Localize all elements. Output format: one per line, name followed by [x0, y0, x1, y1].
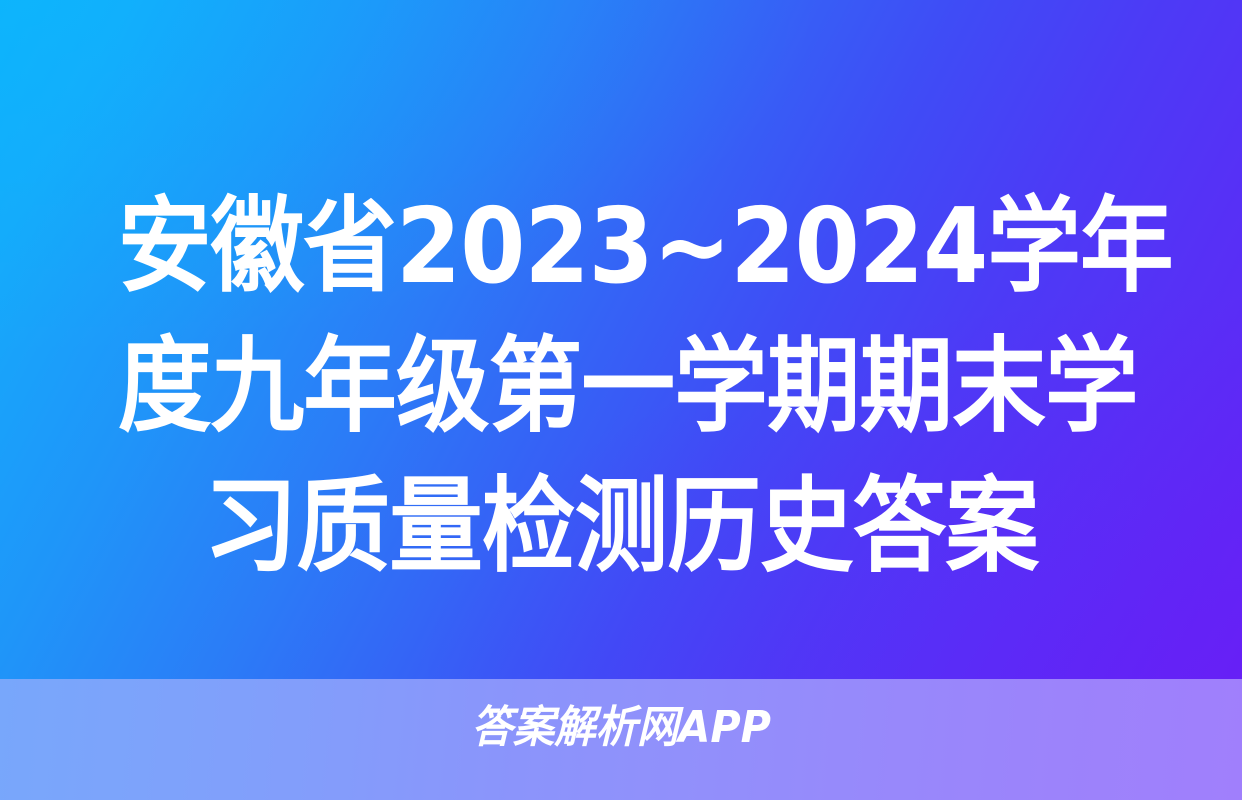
watermark: 答案解析网APP: [0, 700, 1242, 756]
title-line-1: 安徽省2023~2024学年: [118, 176, 1124, 316]
poster-canvas: 安徽省2023~2024学年 度九年级第一学期期末学 习质量检测历史答案 答案解…: [0, 0, 1242, 800]
title-line-2: 度九年级第一学期期末学: [118, 316, 1124, 456]
watermark-brand-label: 答案解析网APP: [471, 700, 770, 756]
poster-title: 安徽省2023~2024学年 度九年级第一学期期末学 习质量检测历史答案: [0, 176, 1242, 596]
title-line-3: 习质量检测历史答案: [118, 456, 1124, 596]
